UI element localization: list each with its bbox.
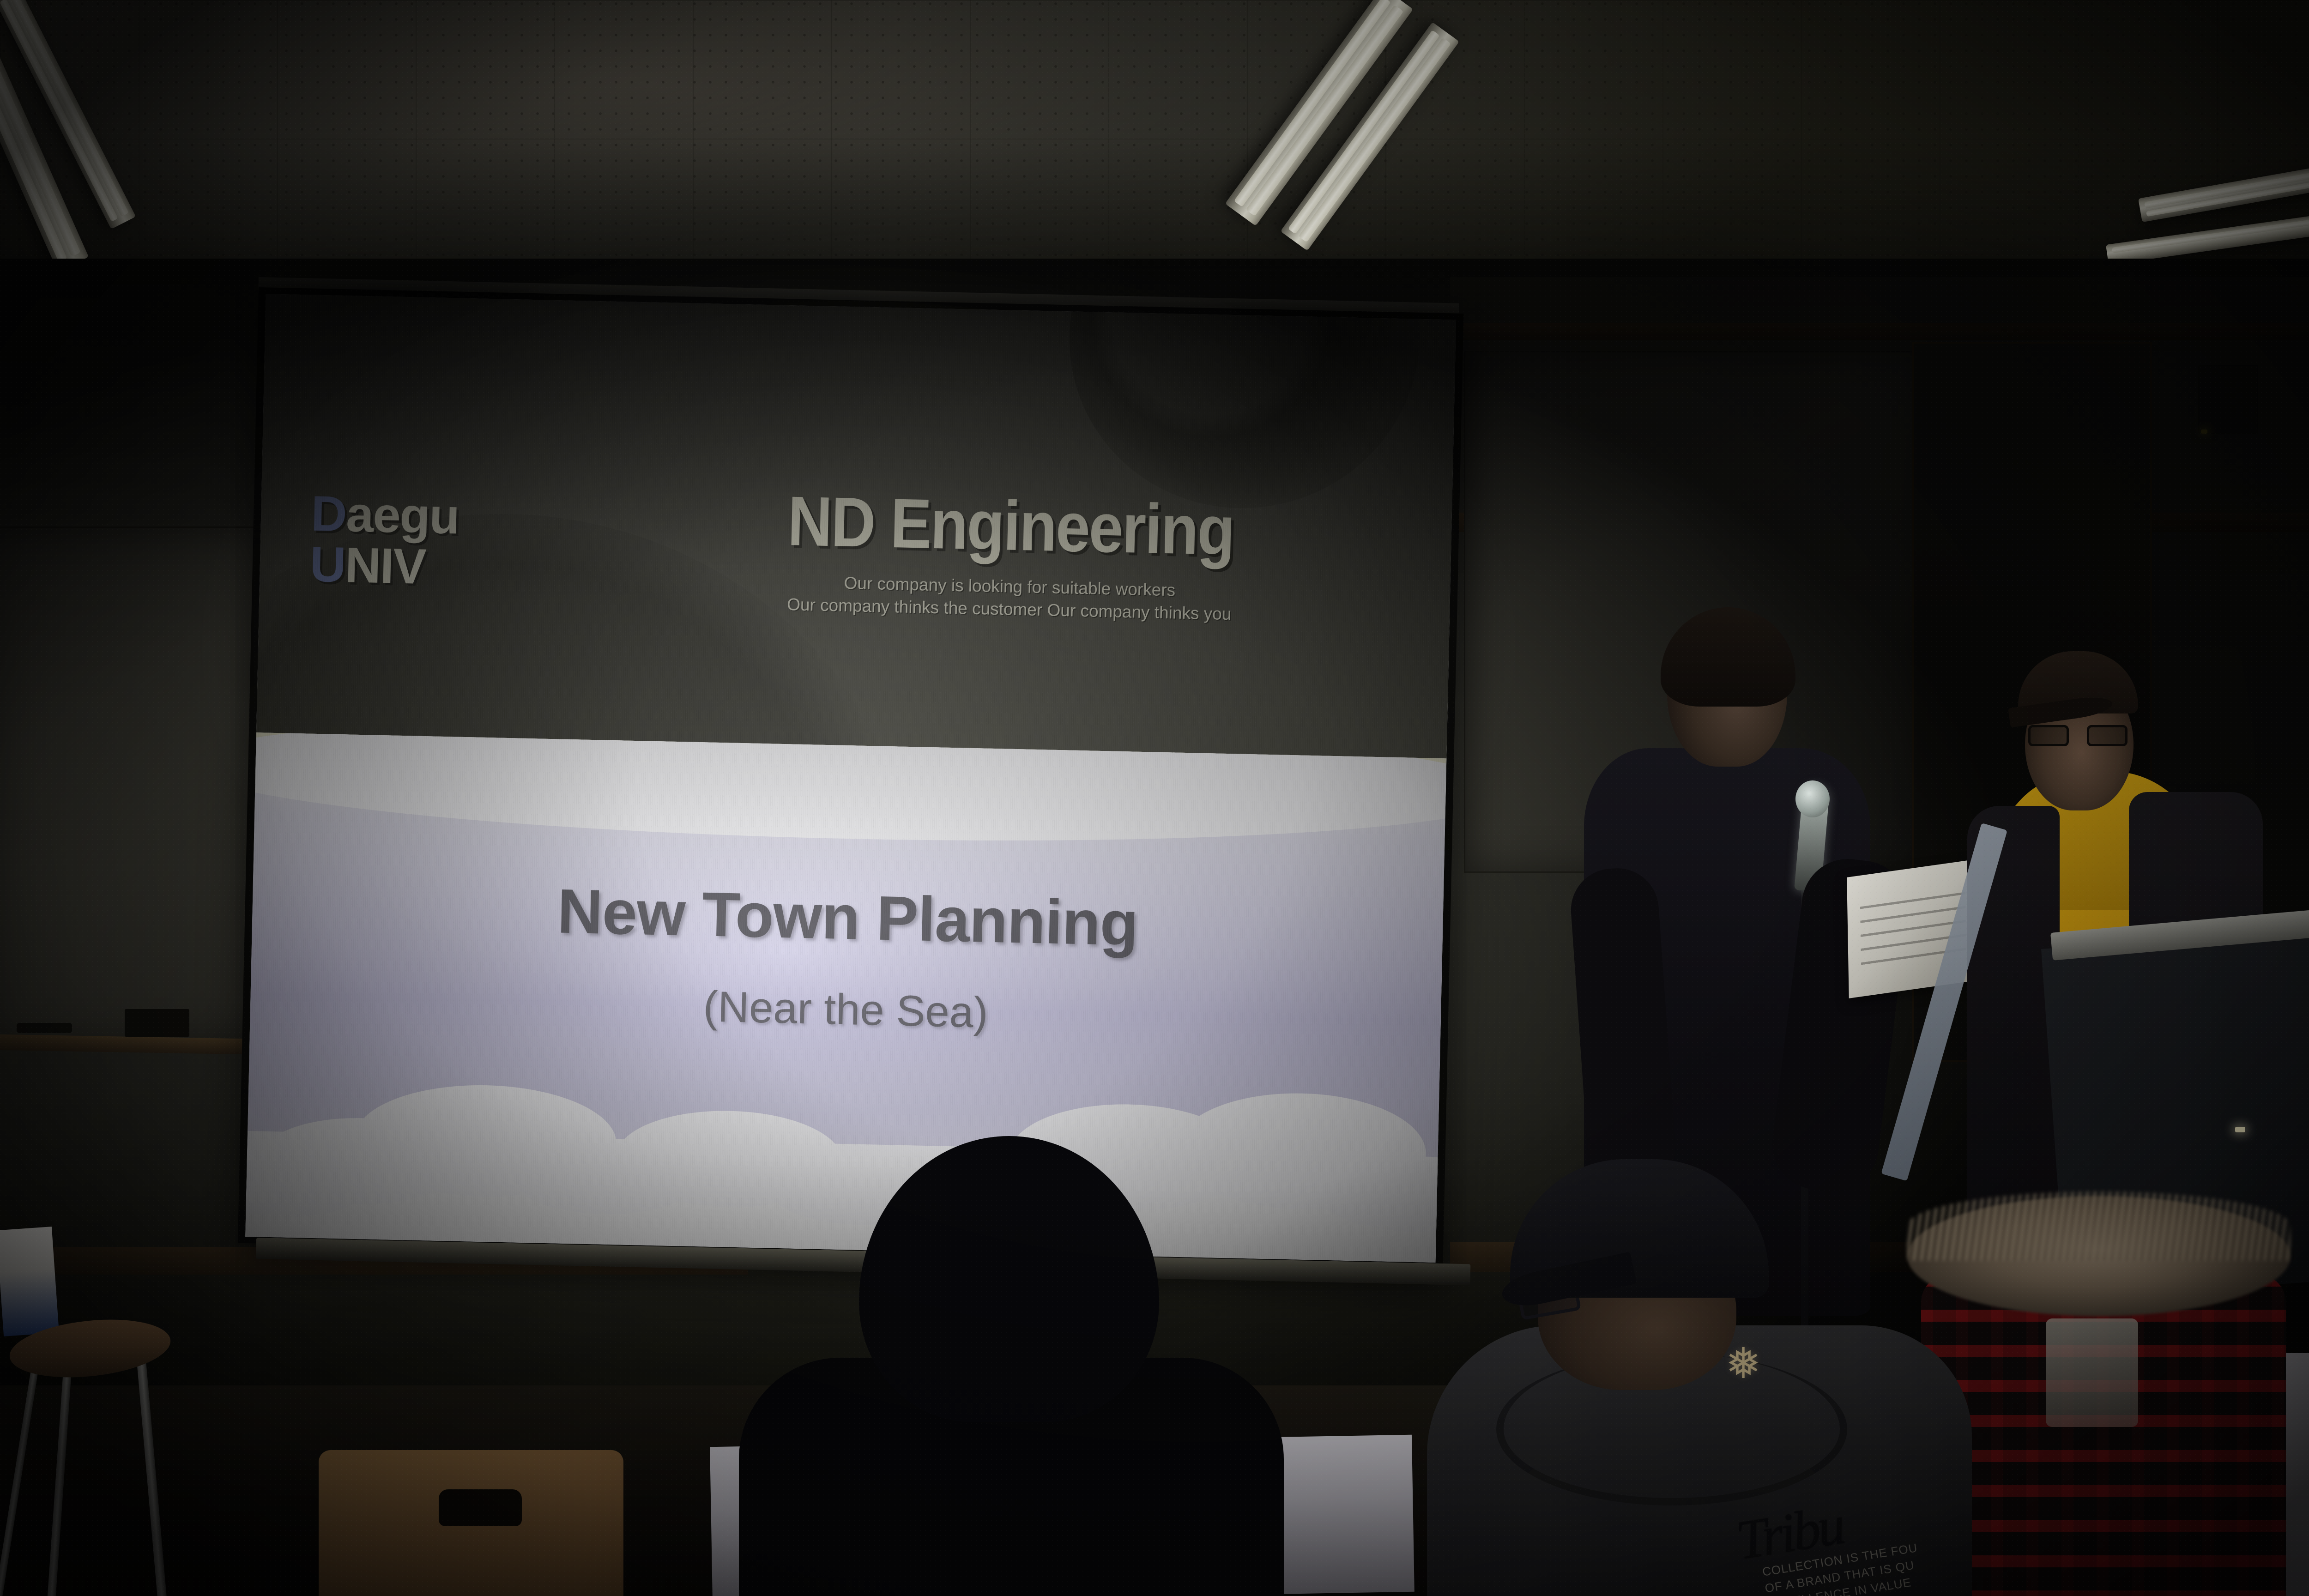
snowflake-icon: ❅ — [1723, 1344, 1764, 1385]
daegu-univ-logo: Daegu UNIV — [309, 488, 459, 592]
slide-body: New Town Planning (Near the Sea) — [245, 732, 1446, 1263]
logo-accent-d: D — [310, 485, 347, 542]
wall-control-panel[interactable] — [2198, 365, 2258, 434]
photo-scene: Daegu UNIV ND Engineering Our company is… — [0, 0, 2309, 1596]
whiteboard-left — [0, 526, 277, 1044]
slide-subtitle: (Near the Sea) — [250, 972, 1441, 1047]
plaid-jacket-label-patch — [2046, 1318, 2138, 1427]
wall-poster — [0, 1227, 59, 1336]
whiteboard-marker[interactable] — [17, 1023, 72, 1033]
eyeglasses-icon — [2028, 725, 2128, 746]
microphone-head-icon — [1795, 780, 1830, 817]
lectern-indicator-led — [2235, 1127, 2245, 1132]
slide-header-band: Daegu UNIV ND Engineering Our company is… — [256, 294, 1456, 758]
glasses-lens-right — [2087, 725, 2128, 746]
glasses-lens-left — [2028, 725, 2069, 746]
company-branding-block: ND Engineering Our company is looking fo… — [616, 477, 1404, 629]
slide-title: New Town Planning — [252, 869, 1444, 967]
logo-line-1: Daegu — [310, 488, 459, 542]
company-name: ND Engineering — [665, 478, 1358, 574]
logo-accent-u: U — [309, 536, 346, 593]
wall-trim-upper — [1450, 323, 2309, 340]
fur-hood-texture — [1907, 1191, 2291, 1261]
logo-body-niv: NIV — [345, 537, 426, 594]
status-led-indicator — [2201, 429, 2207, 434]
whiteboard-eraser[interactable] — [125, 1009, 189, 1037]
presentation-slide: Daegu UNIV ND Engineering Our company is… — [245, 294, 1456, 1263]
projection-screen: Daegu UNIV ND Engineering Our company is… — [238, 287, 1464, 1269]
chair-handle-cutout — [439, 1489, 522, 1526]
logo-line-2: UNIV — [309, 539, 458, 593]
logo-body-aegu: aegu — [345, 486, 459, 544]
